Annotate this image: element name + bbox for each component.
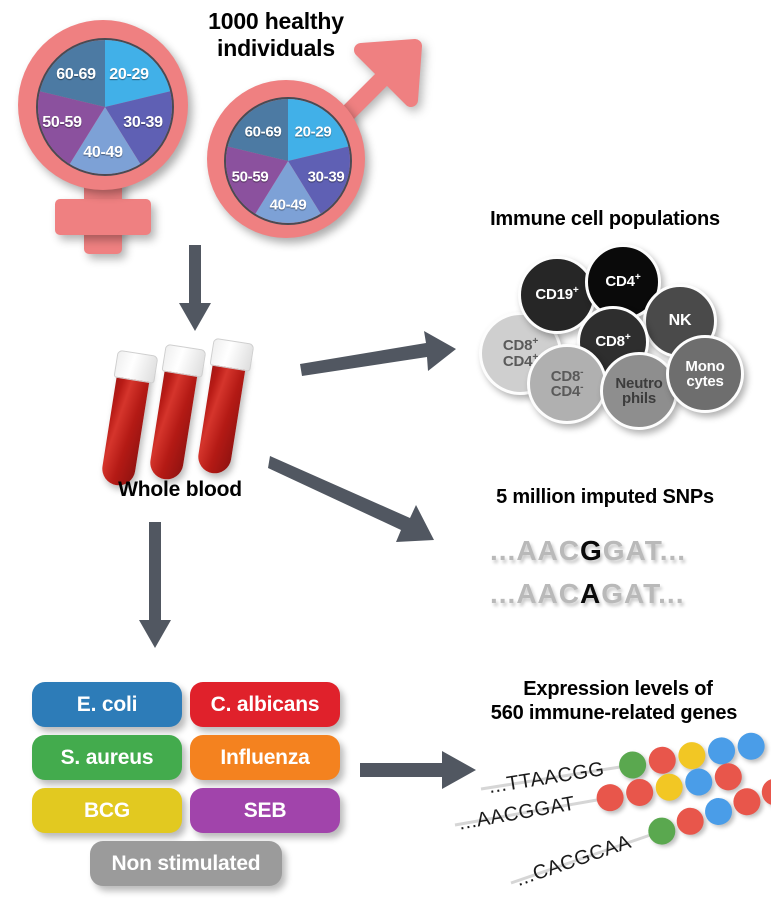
- cell-bubble-label: Mono cytes: [685, 359, 724, 390]
- stimulus-seb[interactable]: SEB: [190, 788, 340, 833]
- stimulus-influenza[interactable]: Influenza: [190, 735, 340, 780]
- arrow-down-cohort-to-blood: [175, 245, 215, 335]
- female-pie-label-40-49: 40-49: [83, 144, 122, 162]
- cell-bubble-cd8neg-cd4neg: CD8- CD4-: [527, 344, 607, 424]
- snp-variant-allele: A: [580, 578, 601, 609]
- strand-sequence-label: ...AACGGAT: [457, 792, 577, 835]
- expression-title-line2: 560 immune-related genes: [458, 702, 770, 726]
- expression-bead: [654, 772, 685, 803]
- cell-bubble-monocytes: Mono cytes: [666, 335, 744, 413]
- male-pie-label-40-49: 40-49: [270, 197, 307, 214]
- arrow-down-blood-to-stimuli: [135, 522, 175, 652]
- female-symbol-stem-horizontal: [55, 199, 151, 235]
- stimuli-panel: E. coli C. albicans S. aureus Influenza …: [32, 682, 342, 897]
- stimulus-bcg[interactable]: BCG: [32, 788, 182, 833]
- cell-bubble-label: CD8+: [595, 334, 630, 349]
- stimulus-e-coli[interactable]: E. coli: [32, 682, 182, 727]
- cell-bubble-label: CD4+: [605, 274, 640, 289]
- expression-bead: [673, 804, 707, 838]
- female-pie-label-60-69: 60-69: [56, 66, 95, 84]
- male-pie-label-50-59: 50-59: [232, 169, 269, 186]
- cell-bubble-label: CD19+: [535, 287, 578, 302]
- whole-blood-label: Whole blood: [80, 478, 280, 503]
- expression-bead: [683, 766, 714, 797]
- expression-bead: [701, 794, 735, 828]
- stimulus-non-stimulated[interactable]: Non stimulated: [90, 841, 282, 886]
- male-pie-label-30-39: 30-39: [308, 169, 345, 186]
- snps-title: 5 million imputed SNPs: [455, 486, 755, 510]
- stimulus-c-albicans[interactable]: C. albicans: [190, 682, 340, 727]
- female-gender-symbol: 20-29 30-39 40-49 50-59 60-69: [10, 12, 195, 257]
- expression-bead: [730, 785, 764, 819]
- whole-blood-tubes: [105, 340, 295, 490]
- female-pie-label-30-39: 30-39: [123, 114, 162, 132]
- male-gender-symbol: 20-29 30-39 40-49 50-59 60-69: [203, 38, 418, 243]
- snp-prefix: ...AAC: [490, 578, 580, 609]
- immune-cell-populations-title: Immune cell populations: [455, 208, 755, 232]
- cell-bubble-label: Neutro phils: [615, 376, 662, 407]
- male-pie-label-60-69: 60-69: [245, 124, 282, 141]
- expression-bead: [645, 814, 679, 848]
- male-pie-label-20-29: 20-29: [295, 124, 332, 141]
- female-pie-label-50-59: 50-59: [42, 114, 81, 132]
- expression-title-line1: Expression levels of: [468, 678, 768, 702]
- expression-bead: [594, 782, 625, 813]
- snp-sequence-row: ...AACGGAT...: [490, 535, 686, 567]
- cell-bubble-label: CD8- CD4-: [551, 369, 584, 400]
- snp-suffix: GAT...: [603, 535, 686, 566]
- female-pie-label-20-29: 20-29: [109, 66, 148, 84]
- stimulus-s-aureus[interactable]: S. aureus: [32, 735, 182, 780]
- arrow-blood-to-snps: [268, 450, 448, 550]
- cell-bubble-label: NK: [669, 313, 692, 329]
- snp-suffix: GAT...: [601, 578, 684, 609]
- arrow-blood-to-immune-cells: [300, 322, 460, 382]
- immune-cell-bubble-group: CD8+ CD4+ CD19+ CD4+ NK CD8+ CD8- CD4- N…: [455, 240, 765, 425]
- expression-bead: [624, 777, 655, 808]
- snp-prefix: ...AAC: [490, 535, 580, 566]
- snp-sequence-row: ...AACAGAT...: [490, 578, 685, 610]
- snp-variant-allele: G: [580, 535, 603, 566]
- strand-sequence-label: ...CACGCAA: [513, 831, 634, 892]
- expression-strand-group: ...TTAACGG ...AACGGAT ...CACGCAA: [455, 740, 771, 905]
